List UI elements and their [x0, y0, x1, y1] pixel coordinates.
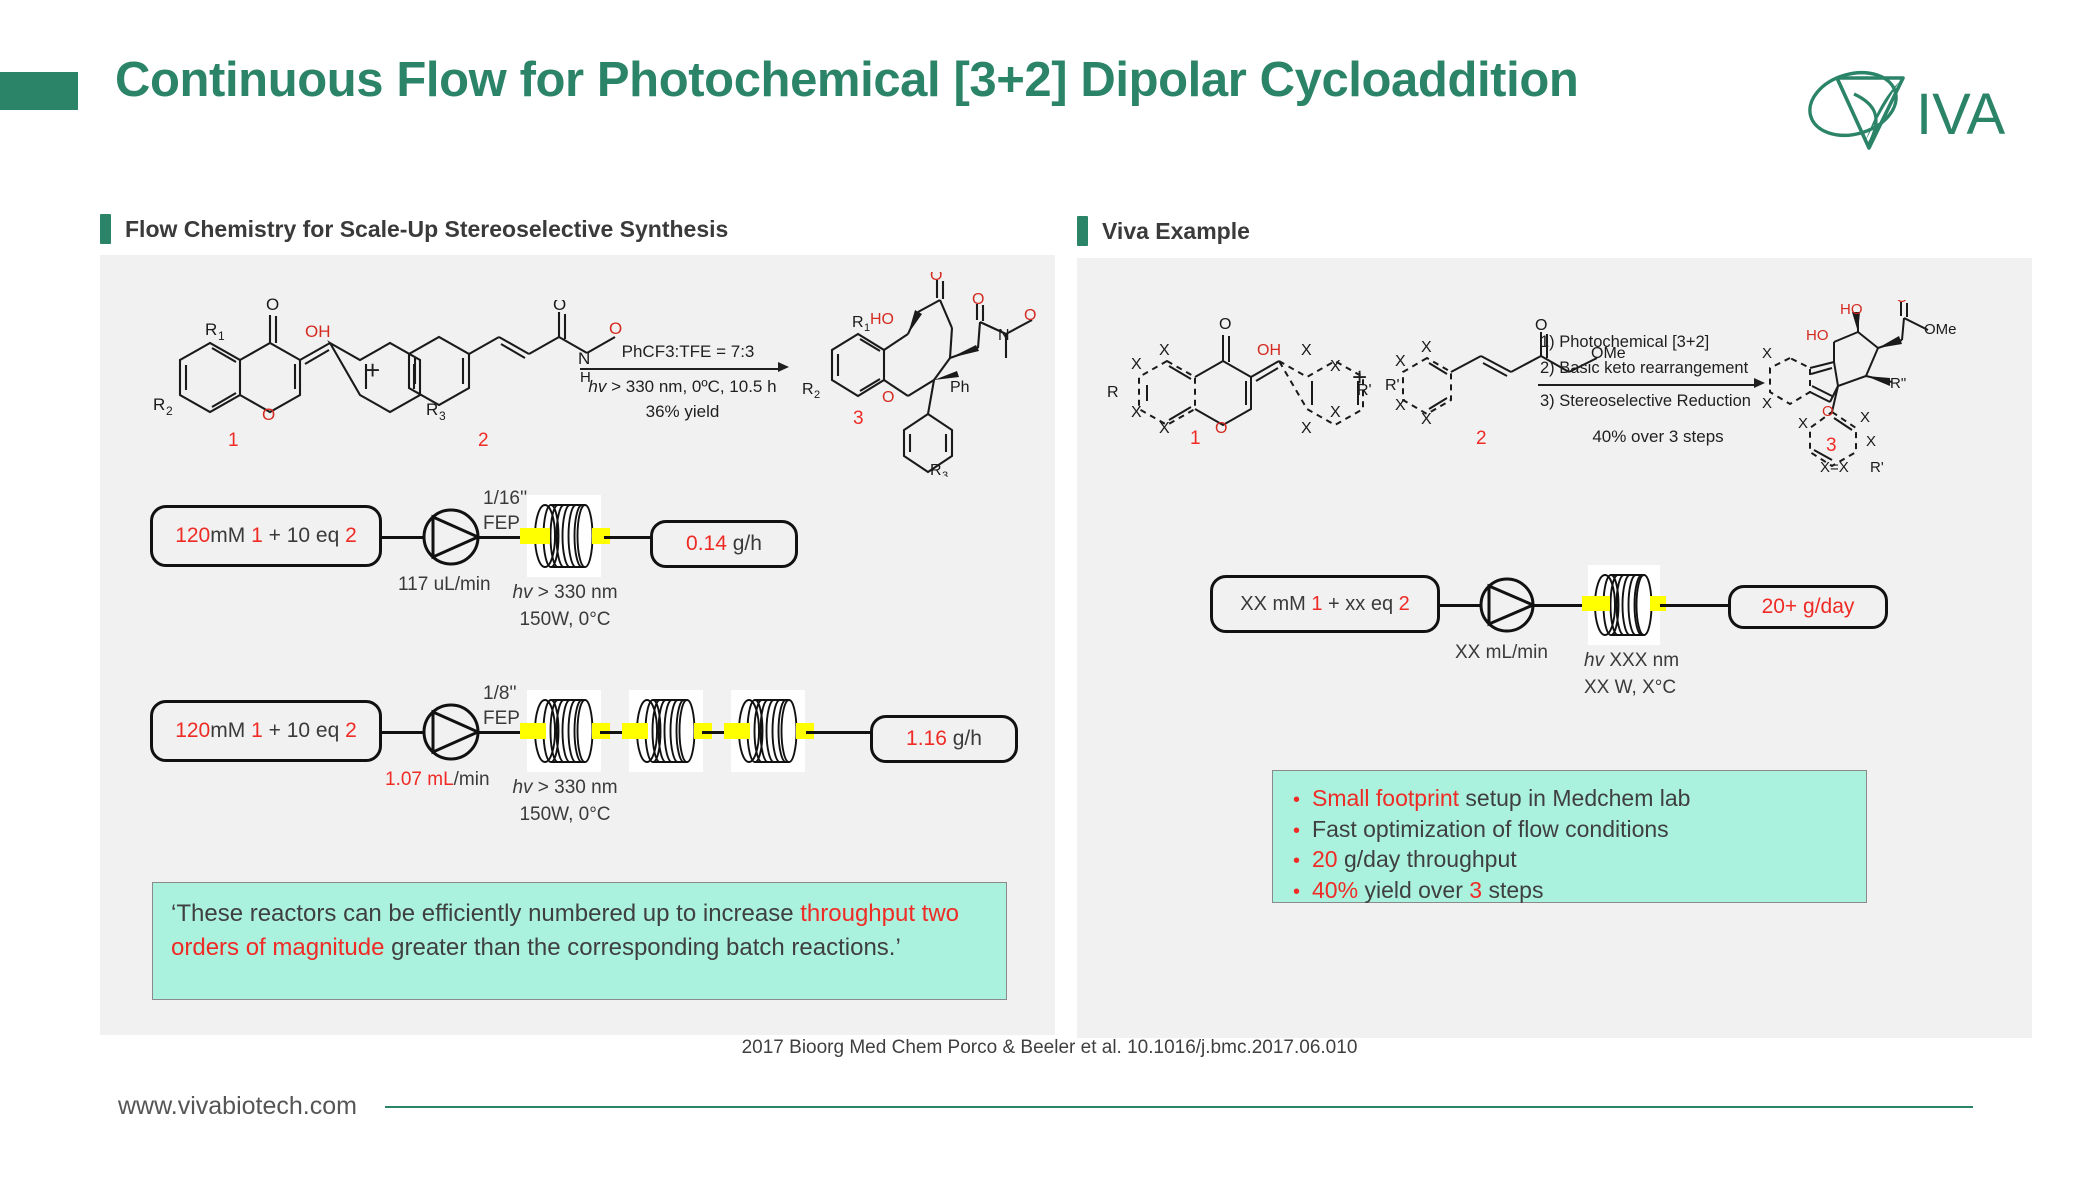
flow1-conc-value: 120: [175, 524, 210, 547]
wavelength-temp-time: > 330 nm, 0ºC, 10.5 h: [606, 377, 776, 396]
svg-text:HO: HO: [1840, 301, 1863, 318]
flow1-tubing-material: FEP: [483, 511, 520, 538]
quote-part-2: greater than the corresponding batch rea…: [384, 934, 900, 961]
synthesis-step-3: 3) Stereoselective Reduction: [1540, 389, 1751, 415]
reaction-arrow-head: [778, 362, 789, 372]
svg-text:X: X: [1159, 342, 1170, 359]
flow1-lamp-conditions: hv > 330 nm 150W, 0°C: [500, 580, 630, 633]
synthesis-step-1: 1) Photochemical [3+2]: [1540, 330, 1748, 356]
section-header-right: Viva Example: [1077, 216, 1250, 246]
svg-text:R: R: [852, 314, 864, 331]
flow2-flow-rate-unit: /min: [454, 769, 490, 790]
flow1-output-box[interactable]: 0.14 g/h: [650, 520, 798, 568]
flow1-photon-symbol: hv: [512, 582, 532, 603]
flow2-flow-rate-value: 1.07 mL: [385, 769, 454, 790]
svg-text:X: X: [1395, 397, 1406, 414]
right-flow-equiv: + xx eq: [1322, 593, 1398, 615]
right-flow-lamp-conditions: hv XXX nm XX W, X°C: [1584, 648, 1679, 701]
flow2-output-box[interactable]: 1.16 g/h: [870, 715, 1018, 763]
website-url[interactable]: www.vivabiotech.com: [118, 1092, 357, 1121]
section-tick-icon: [100, 214, 111, 244]
photon-symbol: hv: [588, 377, 606, 396]
flow1-input-box[interactable]: 120mM 1 + 10 eq 2: [150, 505, 382, 567]
flow1-flow-rate: 117 uL/min: [398, 572, 491, 599]
flow1-fitting-in: [520, 528, 550, 544]
footer-divider: [385, 1106, 1973, 1108]
right-compound-number-3: 3: [1826, 435, 1837, 457]
svg-text:O: O: [1219, 316, 1231, 333]
list-item: • Fast optimization of flow conditions: [1293, 814, 1846, 845]
svg-text:X: X: [1131, 404, 1142, 421]
svg-text:X: X: [1762, 345, 1772, 362]
svg-text:N: N: [578, 349, 590, 368]
section-tick-icon: [1077, 216, 1088, 246]
section-header-left: Flow Chemistry for Scale-Up Stereoselect…: [100, 214, 728, 244]
flow1-conc-unit: mM: [210, 524, 251, 547]
flow1-tubing-size: 1/16'': [483, 486, 527, 513]
flow2-tubing-size: 1/8'': [483, 681, 517, 708]
flow1-output-unit: g/h: [727, 532, 762, 555]
svg-text:X: X: [1860, 409, 1870, 426]
citation-text: 2017 Bioorg Med Chem Porco & Beeler et a…: [0, 1037, 2099, 1059]
svg-text:O: O: [1215, 420, 1227, 437]
quote-part-1: ‘These reactors can be efficiently numbe…: [171, 900, 800, 927]
solvent-ratio: PhCF3:TFE = 7:3: [622, 342, 755, 361]
svg-text:R': R': [1870, 459, 1884, 476]
bullet-1-highlight: Small footprint: [1312, 785, 1459, 811]
flow2-photon-symbol: hv: [512, 777, 532, 798]
svg-text:X: X: [1421, 411, 1432, 428]
right-flow-output-box[interactable]: 20+ g/day: [1728, 585, 1888, 629]
right-flow-input-box[interactable]: XX mM 1 + xx eq 2: [1210, 575, 1440, 633]
svg-text:R: R: [1107, 384, 1119, 401]
svg-text:X: X: [1421, 339, 1432, 356]
svg-text:HO: HO: [870, 311, 894, 328]
bullet-4-text: yield over: [1358, 877, 1469, 903]
svg-text:O: O: [882, 389, 894, 406]
svg-text:1: 1: [218, 329, 225, 343]
compound-number-3: 3: [853, 408, 864, 430]
svg-text:X: X: [1395, 353, 1406, 370]
synthesis-steps-list: 1) Photochemical [3+2] 2) Basic keto rea…: [1540, 330, 1748, 381]
svg-text:X: X: [1866, 433, 1876, 450]
svg-text:HO: HO: [1806, 327, 1829, 344]
benefits-callout-box: • Small footprint setup in Medchem lab •…: [1272, 770, 1867, 903]
svg-text:O: O: [609, 319, 622, 338]
bullet-dot-icon: •: [1293, 882, 1300, 902]
flow2-output-value: 1.16: [906, 727, 947, 750]
flow1-pump-icon: [421, 507, 481, 572]
svg-text:3: 3: [942, 470, 948, 477]
svg-text:X: X: [1301, 342, 1312, 359]
flow2-lamp-conditions: hv > 330 nm 150W, 0°C: [500, 775, 630, 828]
right-flow-photon-symbol: hv: [1584, 650, 1604, 671]
right-flow-compound-2: 2: [1399, 593, 1410, 615]
section-label-right: Viva Example: [1102, 218, 1250, 245]
right-flow-output-value: 20+ g/day: [1762, 595, 1855, 619]
reaction-conditions-bottom: hv > 330 nm, 0ºC, 10.5 h 36% yield: [580, 375, 785, 424]
flow1-wire-1: [382, 536, 424, 539]
flow2-equiv: + 10 eq: [263, 719, 345, 742]
list-item: • 40% yield over 3 steps: [1293, 875, 1846, 906]
svg-text:O: O: [1896, 300, 1908, 306]
flow2-pump-icon: [421, 702, 481, 767]
bullet-3-text: g/day throughput: [1338, 846, 1517, 872]
svg-text:X: X: [1330, 404, 1341, 421]
bullet-4-highlight2: 3: [1469, 877, 1482, 903]
flow2-compound-2: 2: [345, 719, 357, 742]
svg-text:X: X: [1159, 420, 1170, 437]
bullet-dot-icon: •: [1293, 790, 1300, 810]
bullet-4-highlight: 40%: [1312, 877, 1358, 903]
svg-text:O: O: [972, 291, 984, 308]
svg-text:X=X: X=X: [1820, 459, 1849, 476]
plus-sign: +: [365, 355, 380, 386]
flow2-compound-1: 1: [251, 719, 263, 742]
flow2-input-box[interactable]: 120mM 1 + 10 eq 2: [150, 700, 382, 762]
viva-logo: IVA: [1791, 58, 2031, 154]
right-compound-number-2: 2: [1476, 428, 1487, 450]
flow2-wavelength: > 330 nm: [533, 777, 618, 798]
svg-text:R": R": [1890, 375, 1906, 392]
flow2-output-unit: g/h: [947, 727, 982, 750]
right-yield-note: 40% over 3 steps: [1578, 425, 1738, 450]
svg-text:Ph: Ph: [950, 379, 970, 396]
svg-text:OH: OH: [1257, 342, 1281, 359]
flow1-compound-1: 1: [251, 524, 263, 547]
svg-text:2: 2: [166, 404, 173, 418]
svg-text:X: X: [1301, 420, 1312, 437]
svg-text:X: X: [1330, 358, 1341, 375]
bullet-2-text: Fast optimization of flow conditions: [1312, 814, 1669, 845]
right-flow-conc: XX mM: [1240, 593, 1311, 615]
svg-text:O: O: [1024, 307, 1036, 324]
svg-text:O: O: [266, 295, 279, 314]
svg-text:X: X: [1798, 415, 1808, 432]
right-reaction-arrow: [1538, 384, 1756, 386]
bullet-4-text2: steps: [1482, 877, 1543, 903]
title-accent-bar: [0, 72, 78, 110]
left-product-structure: R 1 R 2 HO O O N O O Ph R 3: [800, 272, 1060, 477]
flow2-fitting-2in: [622, 723, 648, 739]
flow2-lamp-power: 150W, 0°C: [500, 802, 630, 829]
svg-text:O: O: [553, 300, 566, 314]
right-compound-number-1: 1: [1190, 428, 1201, 450]
flow1-output-value: 0.14: [686, 532, 727, 555]
flow2-conc-unit: mM: [210, 719, 251, 742]
svg-text:R': R': [1385, 377, 1400, 394]
flow2-fitting-1in: [520, 723, 546, 739]
flow1-wavelength: > 330 nm: [533, 582, 618, 603]
right-flow-wavelength: XXX nm: [1604, 650, 1679, 671]
svg-text:R: R: [205, 320, 217, 339]
list-item: • Small footprint setup in Medchem lab: [1293, 783, 1846, 814]
svg-text:O: O: [930, 272, 942, 284]
svg-text:R: R: [802, 381, 814, 398]
right-flow-compound-1: 1: [1311, 593, 1322, 615]
svg-text:O: O: [262, 405, 275, 424]
compound-number-1: 1: [228, 430, 239, 452]
quote-callout-box: ‘These reactors can be efficiently numbe…: [152, 882, 1007, 1000]
synthesis-step-2: 2) Basic keto rearrangement: [1540, 356, 1748, 382]
bullet-3-highlight: 20: [1312, 846, 1338, 872]
flow2-fitting-3in: [724, 723, 750, 739]
list-item: • 20 g/day throughput: [1293, 844, 1846, 875]
flow2-conc-value: 120: [175, 719, 210, 742]
svg-text:R: R: [930, 462, 942, 477]
bullet-dot-icon: •: [1293, 851, 1300, 871]
flow1-compound-2: 2: [345, 524, 357, 547]
flow1-lamp-power: 150W, 0°C: [500, 607, 630, 634]
svg-text:OH: OH: [305, 322, 331, 341]
flow1-equiv: + 10 eq: [263, 524, 345, 547]
yield-text: 36% yield: [580, 400, 785, 425]
flow2-wire-1: [382, 731, 424, 734]
right-product-structure: X X O HO HO O OMe R" X X X X=X R': [1762, 300, 2012, 480]
bullet-1-text: setup in Medchem lab: [1459, 785, 1690, 811]
right-flow-rate: XX mL/min: [1455, 640, 1548, 667]
right-flow-wire-1: [1440, 604, 1480, 607]
svg-text:R: R: [153, 395, 165, 414]
reaction-conditions-top: PhCF3:TFE = 7:3: [598, 340, 778, 365]
svg-text:X: X: [1131, 356, 1142, 373]
bullet-dot-icon: •: [1293, 821, 1300, 841]
right-plus-sign: +: [1352, 362, 1367, 393]
synthesis-step-3-wrap: 3) Stereoselective Reduction: [1540, 389, 1751, 415]
right-flow-fitting-in: [1582, 596, 1610, 611]
reaction-arrow: [580, 368, 780, 370]
logo-wordmark: IVA: [1916, 82, 2005, 147]
svg-text:N: N: [998, 327, 1010, 344]
page-title: Continuous Flow for Photochemical [3+2] …: [115, 52, 1578, 108]
compound-number-2: 2: [478, 430, 489, 452]
svg-text:O: O: [1822, 403, 1834, 420]
svg-text:2: 2: [814, 389, 820, 401]
right-flow-lamp-power: XX W, X°C: [1584, 675, 1679, 702]
svg-text:OMe: OMe: [1924, 321, 1957, 338]
section-label-left: Flow Chemistry for Scale-Up Stereoselect…: [125, 216, 728, 243]
svg-text:X: X: [1762, 395, 1772, 412]
flow2-flow-rate: 1.07 mL/min: [385, 767, 490, 794]
flow2-tubing-material: FEP: [483, 706, 520, 733]
right-flow-pump-icon: [1478, 576, 1536, 639]
